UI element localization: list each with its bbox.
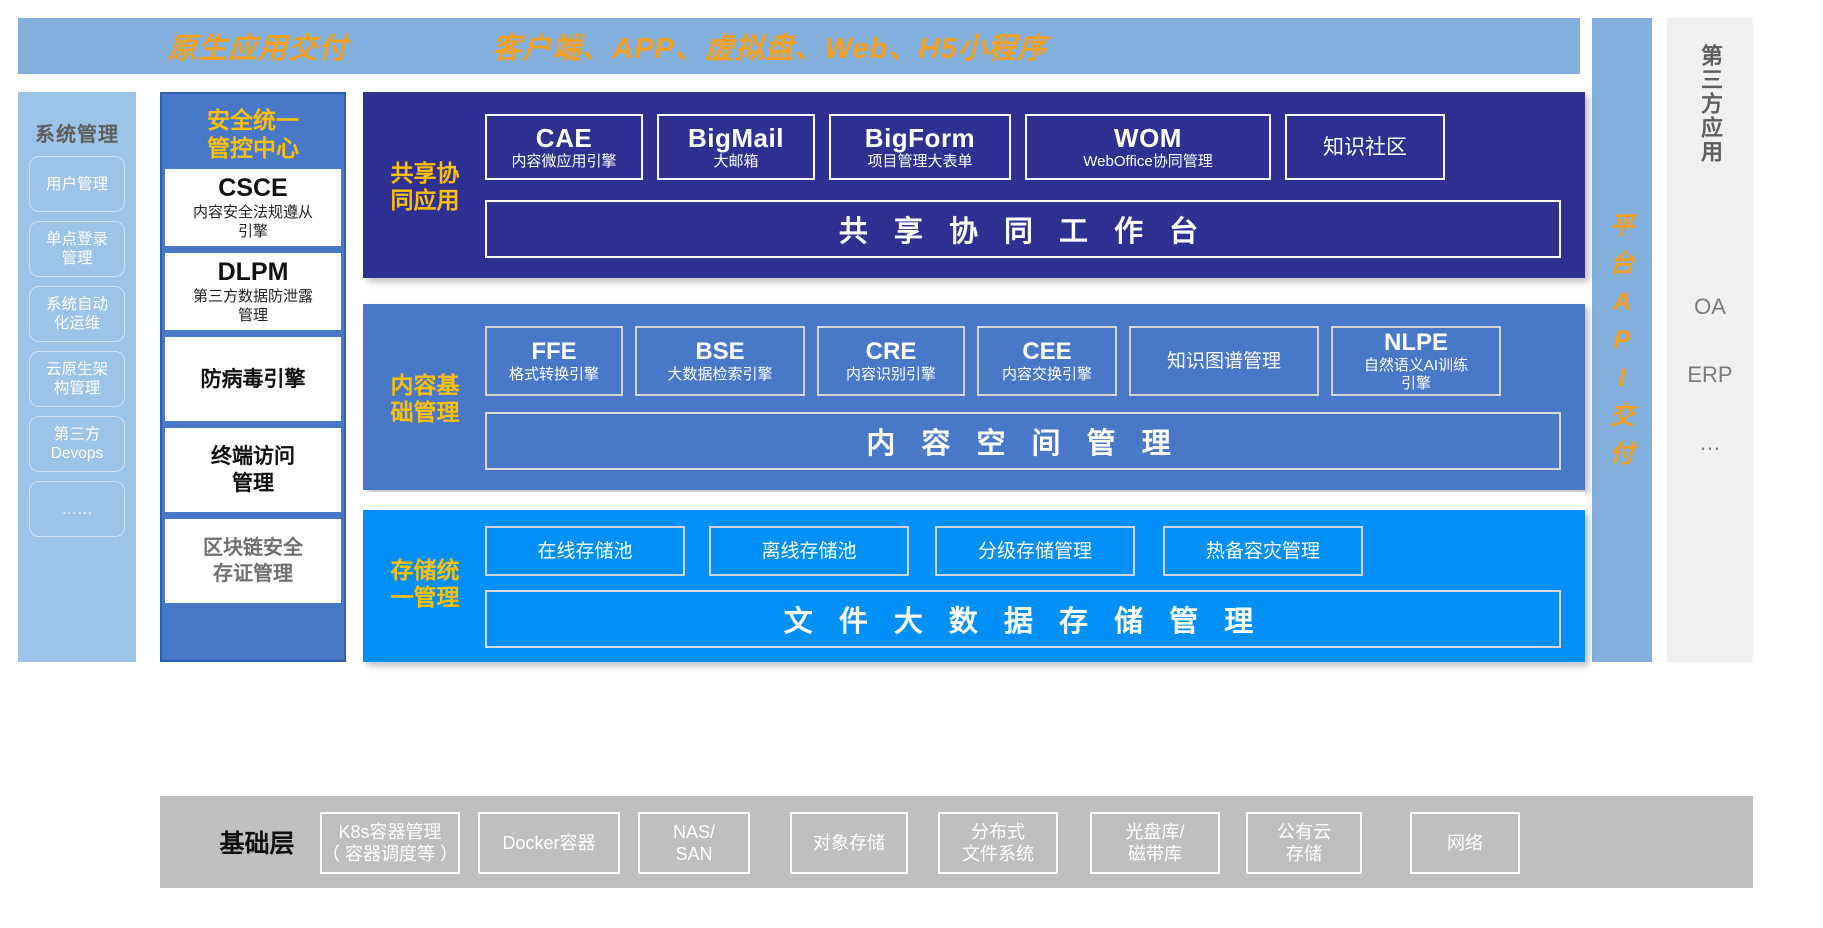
banner-left-group: 原生应用交付 [168,18,348,74]
security-card-title: 防病毒引擎 [201,366,306,393]
security-card-title: 区块链安全存证管理 [203,535,303,587]
module-title: 分级存储管理 [978,540,1092,563]
module-title: 离线存储池 [761,540,856,563]
module-title: 知识图谱管理 [1167,350,1281,373]
module-title: 在线存储池 [537,540,632,563]
system-item-2[interactable]: 系统自动化运维 [29,286,125,342]
module-title: FFE [531,338,576,366]
shared-collaboration-workbench-bar[interactable]: 共 享 协 同 工 作 台 [485,200,1561,258]
module-title: NLPE [1384,329,1448,357]
module-title: BigForm [865,123,975,153]
module-subtitle: 大数据检索引擎 [667,366,772,384]
security-card-3[interactable]: 终端访问管理 [165,428,341,512]
storage-module-3[interactable]: 热备容灾管理 [1163,526,1363,576]
shared-collab-module-1[interactable]: BigMail大邮箱 [657,114,815,180]
security-card-subtitle: 内容安全法规遵从引擎 [167,203,339,241]
infrastructure-item-3[interactable]: 对象存储 [790,812,908,874]
module-title: CAE [536,123,592,153]
module-title: BigMail [688,123,784,153]
content-base-module-2[interactable]: CRE内容识别引擎 [817,326,965,396]
platform-api-label: 平台API交付 [1592,207,1652,473]
module-subtitle: 内容微应用引擎 [511,153,616,171]
system-item-3[interactable]: 云原生架构管理 [29,351,125,407]
third-party-item-0: OA [1667,294,1753,320]
content-base-module-5[interactable]: NLPE自然语义AI训练引擎 [1331,326,1501,396]
shared-collab-module-0[interactable]: CAE内容微应用引擎 [485,114,643,180]
client-channels-label: 客户端、APP、虚拟盘、Web、H5小程序 [492,25,1047,67]
layer-label-shared-collaboration: 共享协同应用 [391,160,460,214]
module-title: CEE [1022,338,1071,366]
shared-collab-module-3[interactable]: WOMWebOffice协同管理 [1025,114,1271,180]
infrastructure-item-2[interactable]: NAS/SAN [638,812,750,874]
third-party-strip: 第三方应用 OAERP… [1667,18,1753,662]
banner-right-group: 客户端、APP、虚拟盘、Web、H5小程序 [492,18,1047,74]
module-subtitle: 项目管理大表单 [867,153,972,171]
layer-content-base-management: 内容基础管理 FFE格式转换引擎BSE大数据检索引擎CRE内容识别引擎CEE内容… [363,304,1585,490]
system-item-1[interactable]: 单点登录管理 [29,221,125,277]
security-card-2[interactable]: 防病毒引擎 [165,337,341,421]
architecture-diagram: 原生应用交付 客户端、APP、虚拟盘、Web、H5小程序 平台API交付 第三方… [0,0,1823,928]
infrastructure-layer: 基础层 K8s容器管理（ 容器调度等 ）Docker容器NAS/SAN对象存储分… [160,796,1753,888]
storage-module-1[interactable]: 离线存储池 [709,526,909,576]
content-space-management-bar[interactable]: 内 容 空 间 管 理 [485,412,1561,470]
infrastructure-item-0[interactable]: K8s容器管理（ 容器调度等 ） [320,812,460,874]
storage-module-2[interactable]: 分级存储管理 [935,526,1135,576]
module-subtitle: 内容交换引擎 [1002,366,1092,384]
layer-shared-collaboration: 共享协同应用 CAE内容微应用引擎BigMail大邮箱BigForm项目管理大表… [363,92,1585,278]
system-item-0[interactable]: 用户管理 [29,156,125,212]
module-subtitle: 自然语义AI训练引擎 [1364,357,1468,393]
system-management-column: 系统管理 用户管理单点登录管理系统自动化运维云原生架构管理第三方Devops…… [18,92,136,662]
security-card-subtitle: 第三方数据防泄露管理 [167,287,339,325]
system-item-5[interactable]: …… [29,481,125,537]
module-title: CRE [866,338,917,366]
system-management-items: 用户管理单点登录管理系统自动化运维云原生架构管理第三方Devops…… [18,156,136,537]
module-subtitle: 大邮箱 [713,153,758,171]
module-subtitle: 格式转换引擎 [509,366,599,384]
infrastructure-title: 基础层 [219,824,294,860]
layer-label-content-base: 内容基础管理 [391,372,460,426]
infrastructure-item-4[interactable]: 分布式文件系统 [938,812,1058,874]
layer-label-storage: 存储统一管理 [391,557,460,611]
third-party-item-2: … [1667,430,1753,456]
security-card-4[interactable]: 区块链安全存证管理 [165,519,341,603]
security-control-title: 安全统一管控中心 [162,94,344,162]
content-base-module-0[interactable]: FFE格式转换引擎 [485,326,623,396]
third-party-title: 第三方应用 [1696,44,1724,164]
security-control-column: 安全统一管控中心 CSCE内容安全法规遵从引擎DLPM第三方数据防泄露管理防病毒… [160,92,346,662]
security-card-title: 终端访问管理 [211,443,295,497]
file-bigdata-storage-bar[interactable]: 文 件 大 数 据 存 储 管 理 [485,590,1561,648]
shared-collab-module-4[interactable]: 知识社区 [1285,114,1445,180]
shared-collab-module-2[interactable]: BigForm项目管理大表单 [829,114,1011,180]
platform-api-strip: 平台API交付 [1592,18,1652,662]
infrastructure-item-7[interactable]: 网络 [1410,812,1520,874]
top-delivery-banner: 原生应用交付 客户端、APP、虚拟盘、Web、H5小程序 [18,18,1580,74]
security-card-title: CSCE [167,174,339,203]
security-card-1[interactable]: DLPM第三方数据防泄露管理 [165,253,341,330]
system-item-4[interactable]: 第三方Devops [29,416,125,472]
infrastructure-item-5[interactable]: 光盘库/磁带库 [1090,812,1220,874]
security-cards: CSCE内容安全法规遵从引擎DLPM第三方数据防泄露管理防病毒引擎终端访问管理区… [162,169,344,603]
security-card-0[interactable]: CSCE内容安全法规遵从引擎 [165,169,341,246]
module-title: 知识社区 [1323,135,1407,160]
third-party-items: OAERP… [1667,294,1753,456]
security-card-title: DLPM [167,258,339,287]
content-base-module-3[interactable]: CEE内容交换引擎 [977,326,1117,396]
module-title: WOM [1114,123,1182,153]
storage-module-0[interactable]: 在线存储池 [485,526,685,576]
content-base-module-1[interactable]: BSE大数据检索引擎 [635,326,805,396]
layer-storage-unified-management: 存储统一管理 在线存储池离线存储池分级存储管理热备容灾管理 文 件 大 数 据 … [363,510,1585,662]
system-management-title: 系统管理 [18,118,136,147]
third-party-item-1: ERP [1667,362,1753,388]
module-title: 热备容灾管理 [1206,540,1320,563]
native-app-delivery-label: 原生应用交付 [168,25,348,67]
module-title: BSE [695,338,744,366]
module-subtitle: 内容识别引擎 [846,366,936,384]
content-base-module-4[interactable]: 知识图谱管理 [1129,326,1319,396]
module-subtitle: WebOffice协同管理 [1083,153,1212,171]
infrastructure-item-1[interactable]: Docker容器 [478,812,620,874]
infrastructure-item-6[interactable]: 公有云存储 [1246,812,1362,874]
